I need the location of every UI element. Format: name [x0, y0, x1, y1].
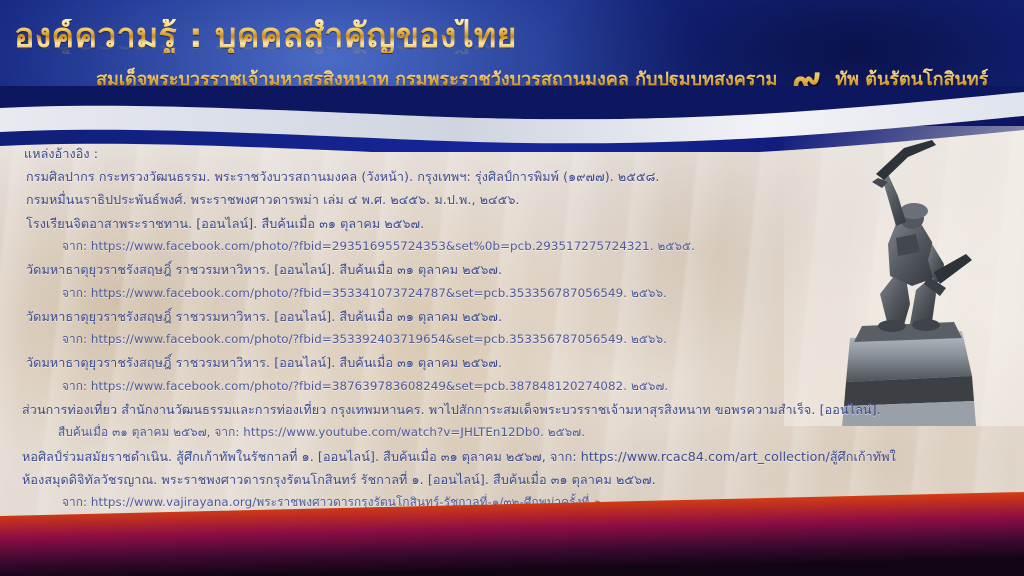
reference-line: กรมศิลปากร กระทรวงวัฒนธรรม. พระราชวังบวร…: [26, 171, 660, 184]
reference-line: จาก: https://www.facebook.com/photo/?fbi…: [62, 288, 667, 300]
reference-line: ห้องสมุดดิจิทัลวัชรญาณ. พระราชพงศาวดารกร…: [22, 474, 656, 487]
reference-line: หอศิลป์ร่วมสมัยราชดำเนิน. สู้ศึกเก้าทัพใ…: [22, 451, 896, 464]
reference-line: ส่วนการท่องเที่ยว สำนักงานวัฒนธรรมและการ…: [22, 404, 881, 417]
reference-line: วัดมหาธาตุยุวราชรังสฤษฎิ์ ราชวรมหาวิหาร.…: [26, 264, 502, 277]
reference-line: สืบค้นเมื่อ ๓๑ ตุลาคม ๒๕๖๗, จาก: https:/…: [58, 427, 585, 439]
reference-line: กรมหมื่นนราธิปประพันธ์พงศ์. พระราชพงศาวด…: [26, 194, 520, 207]
slide-root: องค์ความรู้ : บุคคลสำคัญของไทย องค์ความร…: [0, 0, 1024, 576]
reference-line: วัดมหาธาตุยุวราชรังสฤษฎิ์ ราชวรมหาวิหาร.…: [26, 311, 502, 324]
bottom-band: [0, 486, 1024, 576]
reference-line: จาก: https://www.facebook.com/photo/?fbi…: [62, 381, 668, 393]
reference-line: วัดมหาธาตุยุวราชรังสฤษฎิ์ ราชวรมหาวิหาร.…: [26, 357, 502, 370]
reference-line: โรงเรียนจิตอาสาพระราชทาน. [ออนไลน์]. สืบ…: [26, 218, 424, 231]
reference-line: จาก: https://www.facebook.com/photo/?fbi…: [62, 241, 695, 253]
reference-line: จาก: https://www.facebook.com/photo/?fbi…: [62, 334, 667, 346]
page-title-reflection: องค์ความรู้ : บุคคลสำคัญของไทย: [14, 35, 517, 54]
references-block: แหล่งอ้างอิง : กรมศิลปากร กระทรวงวัฒนธรร…: [0, 140, 1024, 520]
references-heading: แหล่งอ้างอิง :: [24, 148, 98, 161]
